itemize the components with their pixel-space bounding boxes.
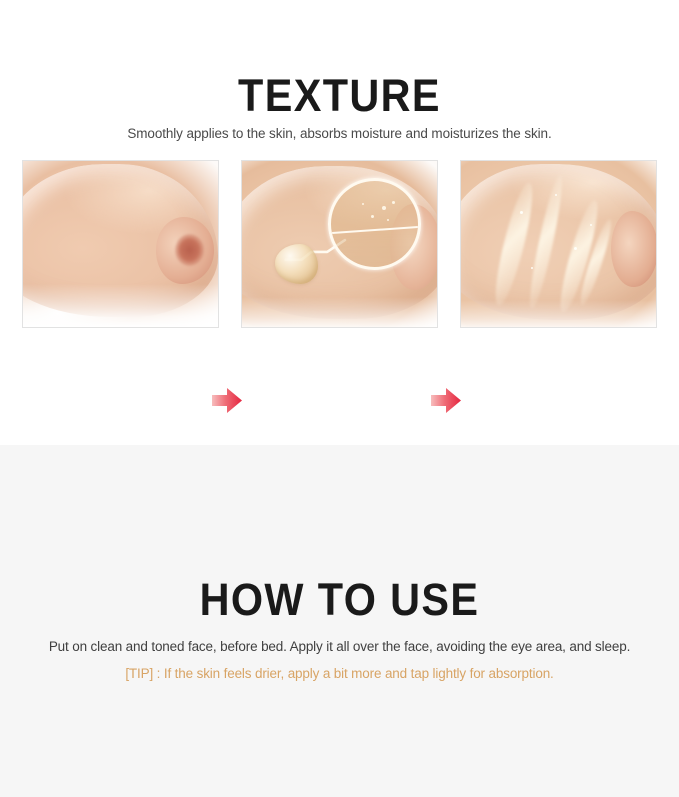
gel-fleck <box>362 203 364 205</box>
hand-photo-after <box>461 161 656 327</box>
texture-heading: TEXTURE <box>27 72 652 120</box>
texture-section: TEXTURE Smoothly applies to the skin, ab… <box>0 0 679 445</box>
arrow-before-to-during-icon <box>212 387 242 414</box>
bottom-fade <box>242 297 437 327</box>
finger-crease <box>175 234 204 266</box>
gel-fleck <box>392 201 395 204</box>
product-detail-page: TEXTURE Smoothly applies to the skin, ab… <box>0 0 679 797</box>
how-to-use-tip: [TIP] : If the skin feels drier, apply a… <box>0 666 679 681</box>
gel-droplet <box>275 244 318 284</box>
texture-image-before <box>22 160 219 328</box>
bottom-fade <box>23 284 218 327</box>
magnifier-horizon-line <box>332 226 418 234</box>
texture-subtitle: Smoothly applies to the skin, absorbs mo… <box>0 126 679 141</box>
how-to-use-heading: HOW TO USE <box>27 576 652 624</box>
thumb-shape <box>611 211 657 287</box>
hand-photo-before <box>23 161 218 327</box>
texture-image-after <box>460 160 657 328</box>
how-to-use-section: HOW TO USE Put on clean and toned face, … <box>0 445 679 797</box>
bottom-fade <box>461 300 656 327</box>
texture-image-during <box>241 160 438 328</box>
magnifier-circle <box>328 178 422 270</box>
gel-fleck <box>371 215 374 218</box>
how-to-use-instruction: Put on clean and toned face, before bed.… <box>0 639 679 654</box>
sparkle <box>520 211 523 214</box>
arrow-during-to-after-icon <box>431 387 461 414</box>
hand-photo-during <box>242 161 437 327</box>
gel-fleck <box>387 219 389 221</box>
sparkle <box>590 224 592 226</box>
sparkle <box>555 194 557 196</box>
texture-panel-row: Before During After <box>0 160 679 330</box>
gel-fleck <box>382 206 386 210</box>
